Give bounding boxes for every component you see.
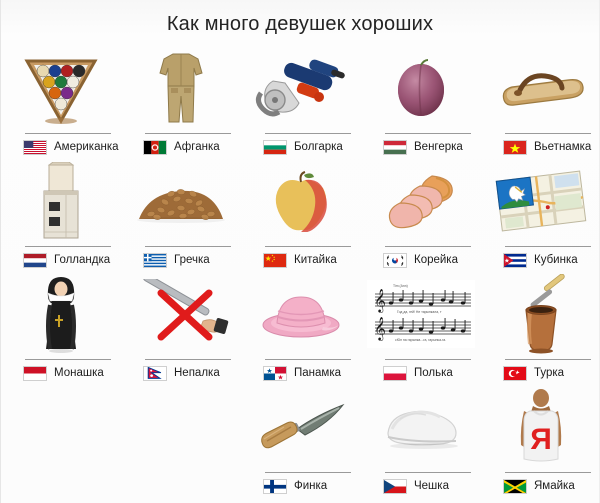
hunting-knife-image (241, 387, 361, 467)
cell-label: Турка (534, 367, 564, 379)
cell-label: Полька (414, 367, 453, 379)
grid-cell-vietnamka[interactable]: Вьетнамка (481, 48, 600, 161)
cell-divider (385, 472, 471, 473)
cell-divider (505, 472, 591, 473)
flag-greece (143, 253, 167, 268)
cell-label-row: Панамка (263, 362, 341, 384)
grid-cell-kubinka[interactable]: Кубинка (481, 161, 600, 274)
grid-cell-panamka[interactable]: Панамка (241, 274, 361, 387)
cell-divider (145, 133, 231, 134)
cell-divider (505, 133, 591, 134)
nun-image (1, 274, 121, 354)
svg-text:𝄞: 𝄞 (374, 290, 386, 313)
military-coverall-image (121, 48, 241, 128)
cell-label-row: Турка (503, 362, 564, 384)
grid-cell-yamayka[interactable]: Я Ямайка (481, 387, 600, 500)
flip-flop-sandal-image (481, 48, 600, 128)
tiled-stove-image (1, 161, 121, 241)
flag-finland (263, 479, 287, 494)
tank-top-with-ya-letter-image: Я (481, 387, 600, 467)
cell-label-row: Полька (383, 362, 453, 384)
pink-sun-hat-image (241, 274, 361, 354)
grid-cell-koreyka[interactable]: Корейка (361, 161, 481, 274)
cell-label: Болгарка (294, 141, 343, 153)
cell-label: Чешка (414, 480, 449, 492)
cell-divider (265, 133, 351, 134)
grid-cell-monashka[interactable]: Монашка (1, 274, 121, 387)
crossed-out-stick-image (121, 274, 241, 354)
page-title: Как много девушек хороших (1, 0, 599, 32)
tank-top-letter: Я (530, 423, 552, 456)
flag-netherlands (23, 253, 47, 268)
cell-label-row: Американка (23, 136, 119, 158)
flag-poland (383, 366, 407, 381)
flag-south-korea (383, 253, 407, 268)
cell-label-row: Монашка (23, 362, 104, 384)
flag-czech-republic (383, 479, 407, 494)
svg-text:𝄞: 𝄞 (374, 318, 386, 341)
cell-label: Китайка (294, 254, 337, 266)
flag-bulgaria (263, 140, 287, 155)
flag-hungary (383, 140, 407, 155)
plum-image (361, 48, 481, 128)
flag-china (263, 253, 287, 268)
cell-label: Голландка (54, 254, 110, 266)
cell-label-row: Вьетнамка (503, 136, 591, 158)
cezve-coffee-pot-image (481, 274, 600, 354)
cell-label: Финка (294, 480, 327, 492)
cell-label: Вьетнамка (534, 141, 591, 153)
cell-label: Афганка (174, 141, 220, 153)
grid-cell-kitayka[interactable]: Китайка (241, 161, 361, 274)
pork-loin-slices-image (361, 161, 481, 241)
grid-cell-afganka[interactable]: Афганка (121, 48, 241, 161)
svg-text:сЮн на гарынка..-га, гарынка: сЮн на гарынка..-га, гарынка-га. (395, 338, 446, 342)
flag-vietnam (503, 140, 527, 155)
flag-afghanistan (143, 140, 167, 155)
svg-text:Год да, гей! Не тарынкала: Год да, гей! Не тарынкала, т (397, 310, 442, 314)
cell-divider (265, 246, 351, 247)
cell-divider (25, 133, 111, 134)
cell-label: Непалка (174, 367, 220, 379)
items-grid: Американка (1, 48, 600, 500)
cell-label-row: Корейка (383, 249, 458, 271)
cell-divider (385, 133, 471, 134)
cell-label-row: Болгарка (263, 136, 343, 158)
grid-cell-turka[interactable]: Турка (481, 274, 600, 387)
cell-divider (145, 246, 231, 247)
flag-usa (23, 140, 47, 155)
cell-divider (505, 246, 591, 247)
town-map-with-coat-of-arms-image (481, 161, 600, 241)
cell-label: Гречка (174, 254, 210, 266)
cell-label-row: Афганка (143, 136, 220, 158)
grid-cell-bolgarka[interactable]: Болгарка (241, 48, 361, 161)
poster-page: Как много девушек хороших (0, 0, 600, 503)
cell-label-row: Непалка (143, 362, 220, 384)
buckwheat-grain-image (121, 161, 241, 241)
grid-cell-grechka[interactable]: Гречка (121, 161, 241, 274)
grid-cell-cheshka[interactable]: Чешка (361, 387, 481, 500)
cell-label: Кубинка (534, 254, 578, 266)
ballet-slipper-image (361, 387, 481, 467)
cell-divider (265, 472, 351, 473)
cell-label-row: Ямайка (503, 475, 575, 497)
cell-label-row: Китайка (263, 249, 337, 271)
cell-label: Венгерка (414, 141, 463, 153)
cell-label: Монашка (54, 367, 104, 379)
cell-label: Панамка (294, 367, 341, 379)
cell-divider (145, 359, 231, 360)
apple-image (241, 161, 361, 241)
cell-label: Ямайка (534, 480, 575, 492)
flag-jamaica (503, 479, 527, 494)
flag-monaco (23, 366, 47, 381)
grid-cell-polka[interactable]: 𝄞 𝄞 (361, 274, 481, 387)
cell-divider (25, 359, 111, 360)
flag-panama (263, 366, 287, 381)
angle-grinder-image (241, 48, 361, 128)
cell-label-row: Чешка (383, 475, 449, 497)
cell-divider (25, 246, 111, 247)
grid-cell-amerikanka[interactable]: Американка (1, 48, 121, 161)
cell-divider (505, 359, 591, 360)
sheet-music-image: 𝄞 𝄞 (361, 274, 481, 354)
cell-label-row: Голландка (23, 249, 110, 271)
billiard-balls-rack-image (1, 48, 121, 128)
grid-cell-nepalka[interactable]: Непалка (121, 274, 241, 387)
cell-divider (265, 359, 351, 360)
cell-label-row: Финка (263, 475, 327, 497)
cell-label-row: Кубинка (503, 249, 578, 271)
flag-cuba (503, 253, 527, 268)
grid-cell-finka[interactable]: Финка (241, 387, 361, 500)
cell-divider (385, 359, 471, 360)
cell-label-row: Венгерка (383, 136, 463, 158)
cell-divider (385, 246, 471, 247)
cell-label: Американка (54, 141, 119, 153)
grid-cell-gollandka[interactable]: Голландка (1, 161, 121, 274)
svg-text:Tim (Ann): Tim (Ann) (393, 284, 408, 288)
grid-cell-vengerka[interactable]: Венгерка (361, 48, 481, 161)
flag-nepal (143, 366, 167, 381)
cell-label-row: Гречка (143, 249, 210, 271)
flag-turkey (503, 366, 527, 381)
cell-label: Корейка (414, 254, 458, 266)
